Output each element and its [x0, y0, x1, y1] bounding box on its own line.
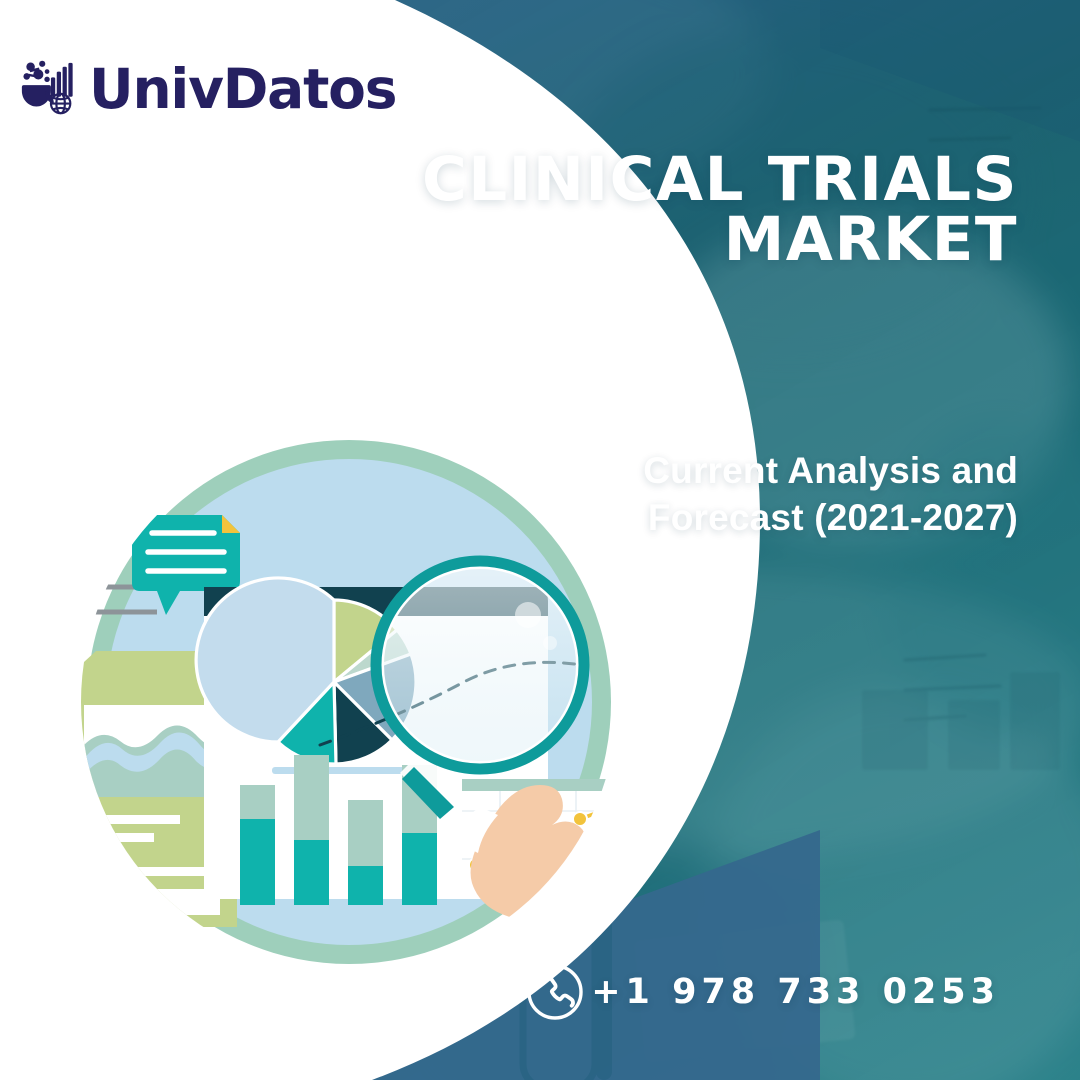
title-line-2: MARKET — [398, 210, 1018, 270]
subtitle-line-1: Current Analysis and — [643, 450, 1018, 491]
phone-number-text: +1 978 733 0253 — [591, 972, 1000, 1012]
data-analytics-circle-illustration — [62, 415, 637, 990]
poster-canvas: CLINICAL TRIALS MARKET Current Analysis … — [0, 0, 1080, 1080]
globe-bar-chart-molecule-icon — [18, 58, 80, 120]
page-title: CLINICAL TRIALS MARKET — [398, 150, 1018, 270]
brand-logo-text: UnivDatos — [89, 62, 396, 117]
chart-divider-line — [272, 767, 414, 774]
brand-logo[interactable]: UnivDatos — [18, 58, 396, 120]
